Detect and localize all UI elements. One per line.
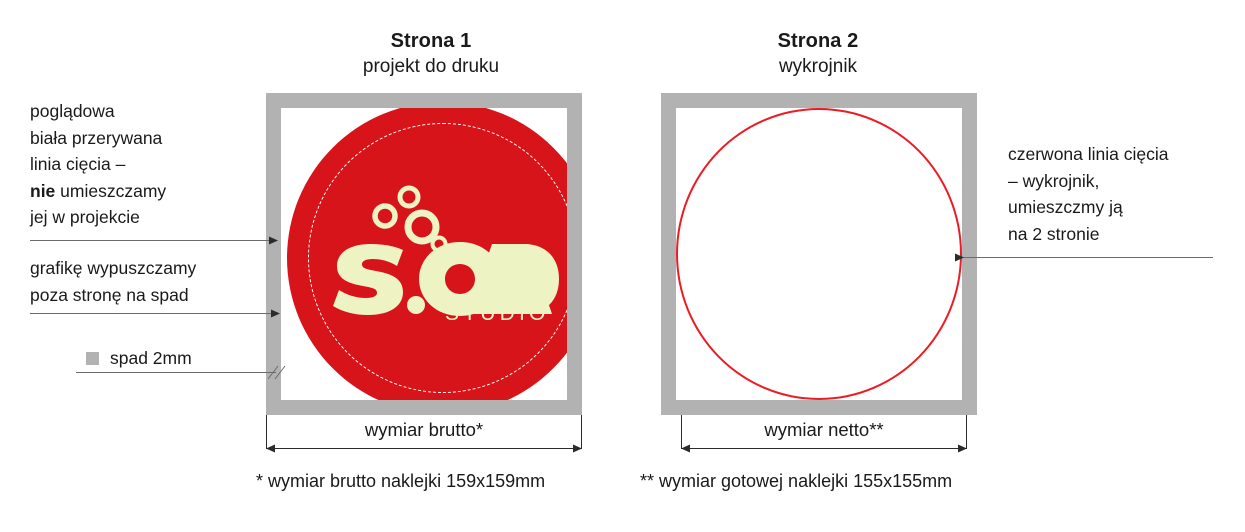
leader-lines	[0, 0, 1245, 532]
footnote-netto: ** wymiar gotowej naklejki 155x155mm	[640, 471, 952, 492]
dimension-netto: wymiar netto**	[681, 415, 967, 455]
diagram-canvas: Strona 1 projekt do druku Strona 2 wykro…	[0, 0, 1245, 532]
dimension-brutto-label: wymiar brutto*	[266, 419, 582, 441]
dimension-brutto: wymiar brutto*	[266, 415, 582, 455]
dimension-netto-label: wymiar netto**	[681, 419, 967, 441]
footnote-brutto: * wymiar brutto naklejki 159x159mm	[256, 471, 545, 492]
